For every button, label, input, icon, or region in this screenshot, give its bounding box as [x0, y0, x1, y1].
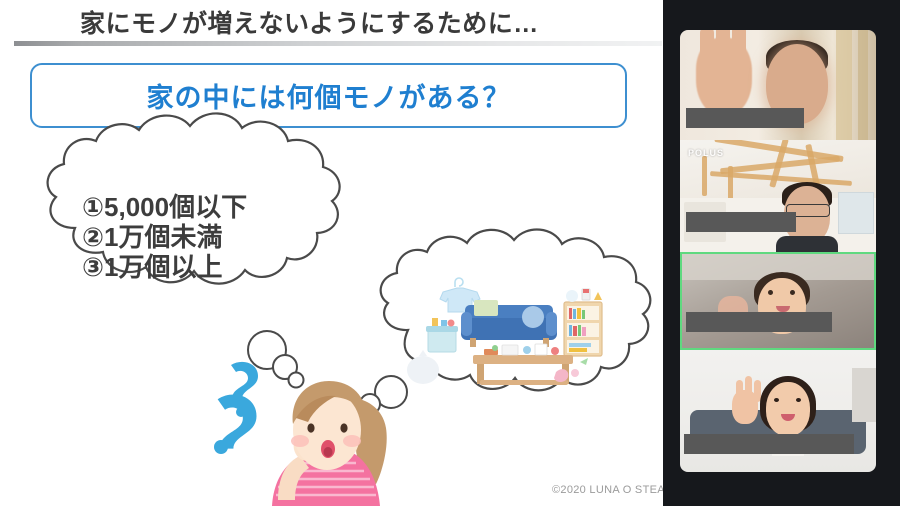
video-conference-panel: POLUS: [663, 0, 900, 506]
participant-4-face: [766, 382, 810, 436]
shirt-stripes: [276, 456, 376, 495]
participant-3-video: [682, 254, 874, 348]
room-thought-bubble: [381, 229, 651, 390]
option-item-3: ③1万個以上: [82, 252, 342, 282]
presentation-slide: 家にモノが増えないようにするために… 家の中には何個モノがある？: [0, 0, 663, 506]
blue-sofa-icon: [461, 300, 557, 347]
title-divider-rule: [14, 41, 662, 46]
options-bubble-tail: [248, 331, 304, 388]
question-text: 家の中には何個モノがある？: [147, 76, 511, 115]
options-list: ①5,000個以下 ②1万個未満 ③1万個以上: [82, 192, 342, 282]
room-bubble-tail: [349, 376, 407, 418]
participant-3-name-redaction: [686, 312, 832, 332]
participant-2-name-redaction: [686, 212, 796, 232]
participant-2-video: POLUS: [680, 140, 876, 252]
video-tile-participant-4[interactable]: [680, 350, 876, 472]
video-tile-participant-2[interactable]: POLUS: [680, 140, 876, 252]
toy-box-icon: [426, 318, 458, 352]
participant-1-name-redaction: [686, 108, 804, 128]
floor-lamp-icon: [407, 350, 439, 384]
hanging-shirt-icon: [440, 278, 480, 312]
video-tile-participant-3[interactable]: [680, 252, 876, 350]
question-mark-icon: [214, 395, 257, 454]
slide-title: 家にモノが増えないようにするために…: [80, 4, 539, 40]
clutter-items-icon: [554, 358, 588, 382]
copyright-notice: ©2020 LUNA O STEA: [552, 484, 663, 496]
video-tile-participant-1[interactable]: [680, 30, 876, 140]
bookshelf-icon: [564, 289, 602, 356]
participant-4-name-redaction: [684, 434, 854, 454]
option-item-1: ①5,000個以下: [82, 192, 342, 222]
room-illustration: [407, 278, 602, 385]
question-mark-icon: [231, 362, 258, 417]
question-callout-box: 家の中には何個モノがある？: [30, 63, 627, 128]
thinking-woman-illustration: [214, 362, 387, 506]
option-item-2: ②1万個未満: [82, 222, 342, 252]
polus-watermark: POLUS: [688, 148, 724, 158]
coffee-table-icon: [473, 344, 573, 385]
